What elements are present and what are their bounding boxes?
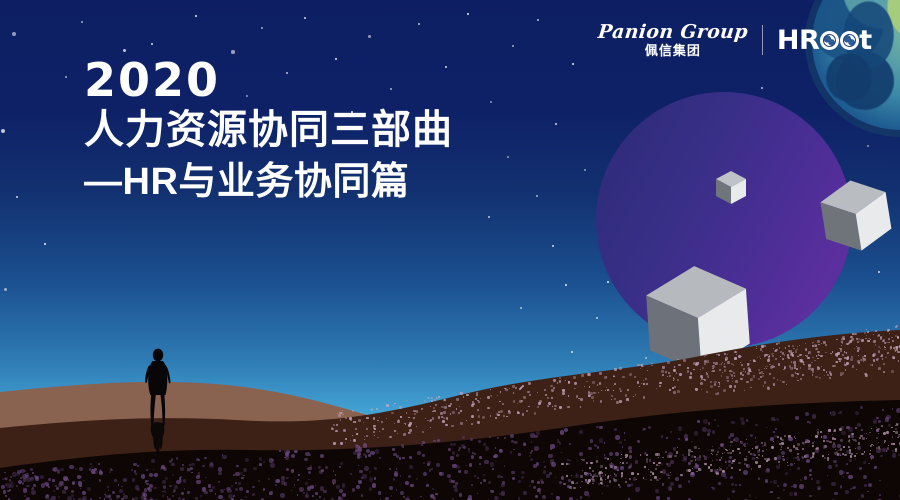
page-title-main: 人力资源协同三部曲 <box>84 104 453 157</box>
globe-icon-right <box>840 31 859 50</box>
panion-script-text: Panion Group <box>597 23 749 42</box>
logo-bar: Panion Group 佩信集团 HR t <box>598 20 872 60</box>
person-body <box>145 349 170 427</box>
logo-divider <box>762 25 763 55</box>
title-block: 2020 人力资源协同三部曲 —HR与业务协同篇 <box>84 56 453 207</box>
hroot-logo[interactable]: HR t <box>777 25 872 56</box>
page-title-year: 2020 <box>84 56 453 104</box>
panion-chinese-text: 佩信集团 <box>645 44 701 57</box>
person-silhouette <box>138 347 180 457</box>
hroot-suffix-text: t <box>859 25 871 56</box>
page-title-sub: —HR与业务协同篇 <box>84 157 453 207</box>
person-reflection <box>151 422 165 454</box>
poster-canvas: 2020 人力资源协同三部曲 —HR与业务协同篇 Panion Group 佩信… <box>0 0 900 500</box>
globe-icon-left <box>820 31 839 50</box>
hroot-prefix-text: HR <box>777 25 819 56</box>
panion-group-logo[interactable]: Panion Group 佩信集团 <box>598 23 748 57</box>
